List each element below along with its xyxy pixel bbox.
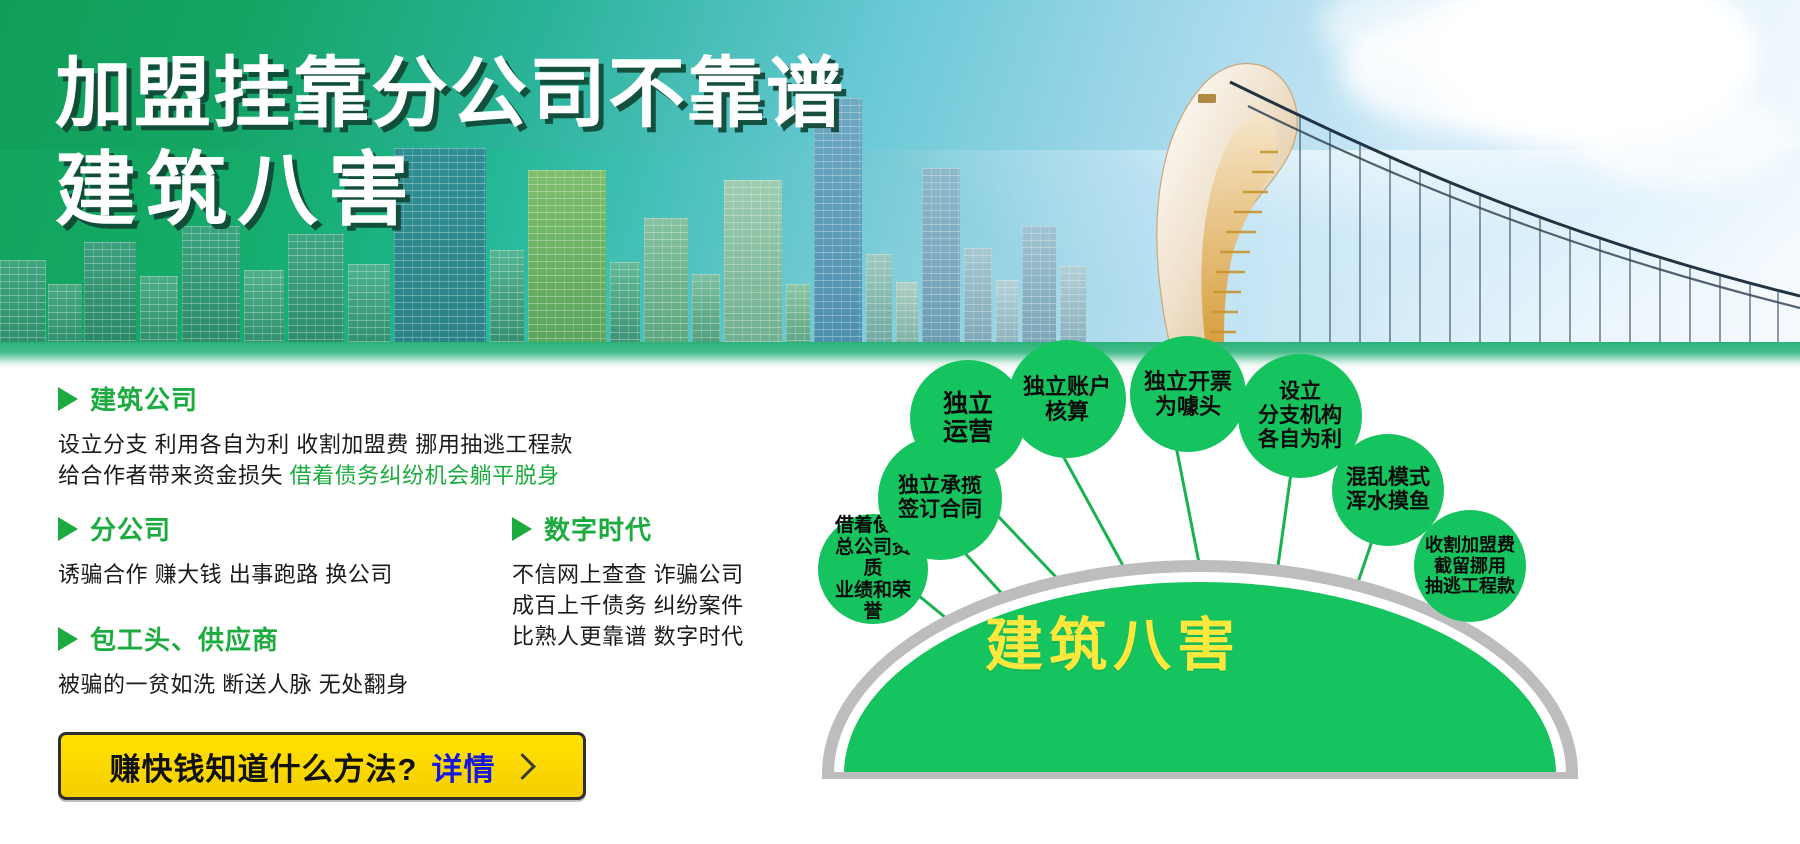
bubble-line: 独立开票 bbox=[1140, 369, 1236, 394]
promo-banner-page: 加盟挂靠分公司不靠谱 建筑八害 建筑公司 设立分支 利用各自为利 收割加盟费 挪… bbox=[0, 0, 1800, 844]
section-line: 比熟人更靠谱 数字时代 bbox=[512, 621, 744, 652]
triangle-right-icon bbox=[58, 387, 78, 411]
section-title: 数字时代 bbox=[544, 510, 652, 547]
section-line: 给合作者带来资金损失 借着债务纠纷机会躺平脱身 bbox=[58, 460, 573, 491]
bubble-line: 截留挪用 bbox=[1421, 556, 1519, 577]
bubble-line: 独立承揽 bbox=[894, 474, 986, 498]
section-line: 成百上千债务 纠纷案件 bbox=[512, 590, 744, 621]
bubble-franchise-fee-harvest[interactable]: 收割加盟费 截留挪用 抽逃工程款 bbox=[1414, 510, 1526, 622]
bubble-line: 业绩和荣誉 bbox=[822, 580, 924, 623]
section-body: 被骗的一贫如洗 断送人脉 无处翻身 bbox=[58, 669, 409, 700]
bubble-line: 混乱模式 bbox=[1342, 466, 1434, 490]
section-line: 不信网上查查 诈骗公司 bbox=[512, 559, 744, 590]
section-branch-company: 分公司 诱骗合作 赚大钱 出事跑路 换公司 bbox=[58, 510, 393, 590]
bubble-independent-invoicing[interactable]: 独立开票 为噱头 bbox=[1130, 336, 1246, 452]
section-header: 数字时代 bbox=[512, 510, 744, 547]
cta-main-text: 赚快钱知道什么方法? bbox=[110, 744, 418, 789]
section-body: 不信网上查查 诈骗公司 成百上千债务 纠纷案件 比熟人更靠谱 数字时代 bbox=[512, 559, 744, 653]
section-line: 被骗的一贫如洗 断送人脉 无处翻身 bbox=[58, 669, 409, 700]
section-body: 诱骗合作 赚大钱 出事跑路 换公司 bbox=[58, 559, 393, 590]
dome-base-bar bbox=[822, 772, 1578, 779]
eight-harms-diagram: 建筑八害 借着使用 总公司资质 业绩和荣誉 独立承揽 签订合同 独立 运营 独立… bbox=[800, 336, 1800, 844]
section-title: 建筑公司 bbox=[90, 380, 198, 417]
bubble-line: 为噱头 bbox=[1140, 394, 1236, 419]
triangle-right-icon bbox=[58, 517, 78, 541]
section-title: 分公司 bbox=[90, 510, 171, 547]
section-line: 诱骗合作 赚大钱 出事跑路 换公司 bbox=[58, 559, 393, 590]
bubble-line: 设立 bbox=[1254, 380, 1346, 404]
left-content-column: 建筑公司 设立分支 利用各自为利 收割加盟费 挪用抽逃工程款 给合作者带来资金损… bbox=[0, 380, 800, 844]
section-line: 设立分支 利用各自为利 收割加盟费 挪用抽逃工程款 bbox=[58, 429, 573, 460]
section-construction-company: 建筑公司 设立分支 利用各自为利 收割加盟费 挪用抽逃工程款 给合作者带来资金损… bbox=[58, 380, 573, 491]
bubble-independent-operation[interactable]: 独立 运营 bbox=[910, 360, 1026, 476]
section-body: 设立分支 利用各自为利 收割加盟费 挪用抽逃工程款 给合作者带来资金损失 借着债… bbox=[58, 429, 573, 491]
bubble-line: 浑水摸鱼 bbox=[1342, 490, 1434, 514]
bubble-line: 运营 bbox=[939, 418, 997, 447]
dome-center-label: 建筑八害 bbox=[985, 598, 1241, 682]
bridge-illustration bbox=[1110, 46, 1800, 346]
section-header: 包工头、供应商 bbox=[58, 620, 409, 657]
bubble-line: 各自为利 bbox=[1254, 428, 1346, 452]
section-header: 建筑公司 bbox=[58, 380, 573, 417]
hero-title-line-1: 加盟挂靠分公司不靠谱 bbox=[55, 55, 845, 134]
hero-banner: 加盟挂靠分公司不靠谱 建筑八害 bbox=[0, 0, 1800, 368]
bubble-line: 分支机构 bbox=[1254, 404, 1346, 428]
bubble-line: 独立账户 bbox=[1019, 374, 1115, 399]
hero-title-line-2: 建筑八害 bbox=[55, 150, 845, 233]
section-contractor-supplier: 包工头、供应商 被骗的一贫如洗 断送人脉 无处翻身 bbox=[58, 620, 409, 700]
chevron-right-icon bbox=[510, 753, 537, 780]
bubble-independent-account[interactable]: 独立账户 核算 bbox=[1008, 340, 1126, 458]
bubble-line: 收割加盟费 bbox=[1421, 535, 1519, 556]
bubble-line: 签订合同 bbox=[894, 498, 986, 522]
section-line-accent: 借着债务纠纷机会躺平脱身 bbox=[290, 463, 560, 488]
cta-button[interactable]: 赚快钱知道什么方法? 详情 bbox=[58, 732, 586, 800]
triangle-right-icon bbox=[512, 517, 532, 541]
triangle-right-icon bbox=[58, 627, 78, 651]
section-digital-era: 数字时代 不信网上查查 诈骗公司 成百上千债务 纠纷案件 比熟人更靠谱 数字时代 bbox=[512, 510, 744, 653]
cta-link-text[interactable]: 详情 bbox=[431, 744, 495, 789]
bubble-line: 独立 bbox=[939, 390, 997, 419]
bubble-line: 抽逃工程款 bbox=[1421, 576, 1519, 597]
section-title: 包工头、供应商 bbox=[90, 620, 279, 657]
bubble-line: 核算 bbox=[1019, 399, 1115, 424]
hero-title: 加盟挂靠分公司不靠谱 建筑八害 bbox=[55, 55, 845, 232]
section-header: 分公司 bbox=[58, 510, 393, 547]
